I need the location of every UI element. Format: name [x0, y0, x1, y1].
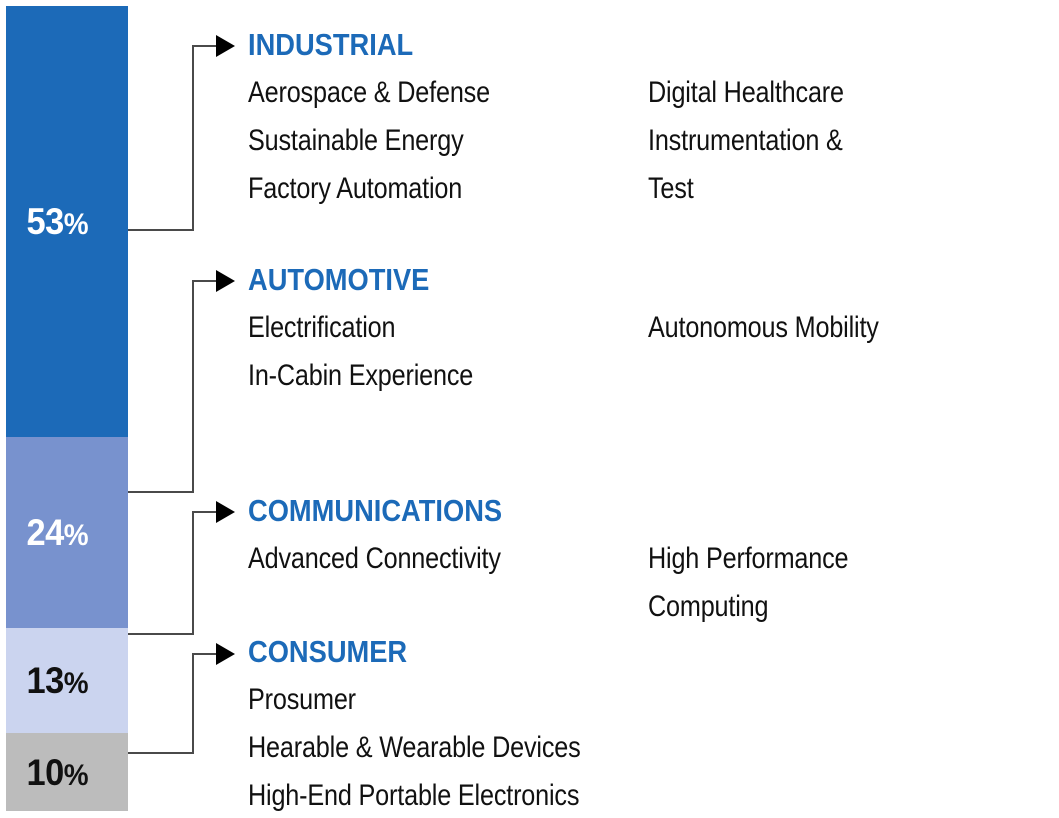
bar-label-automotive: 24% — [6, 514, 88, 551]
list-item: Hearable & Wearable Devices — [248, 724, 581, 772]
bar-value-automotive: 24 — [26, 512, 63, 553]
list-item: Instrumentation & — [648, 117, 844, 165]
connector-automotive-stem — [128, 491, 194, 493]
bar-label-industrial: 53% — [6, 203, 88, 240]
list-item: High-End Portable Electronics — [248, 772, 581, 818]
category-title-communications: COMMUNICATIONS — [248, 495, 502, 526]
bar-segment-automotive[interactable]: 24% — [6, 437, 128, 628]
connector-industrial-stem — [128, 229, 194, 231]
category-title-automotive: AUTOMOTIVE — [248, 264, 429, 295]
category-block-industrial: INDUSTRIAL Aerospace & Defense Sustainab… — [248, 29, 436, 219]
category-column-left-automotive: Electrification In-Cabin Experience — [248, 304, 516, 400]
percent-sign-automotive: % — [64, 519, 88, 552]
list-item: Electrification — [248, 304, 473, 352]
connector-industrial-riser — [192, 45, 194, 231]
connector-automotive-riser — [192, 280, 194, 493]
bar-segment-communications[interactable]: 13% — [6, 628, 128, 733]
list-item: High Performance — [648, 535, 848, 583]
category-block-communications: COMMUNICATIONS Advanced Connectivity Hig… — [248, 495, 537, 635]
connector-consumer-lead — [192, 653, 218, 655]
bar-value-consumer: 10 — [26, 752, 63, 793]
category-columns-industrial: Aerospace & Defense Sustainable Energy F… — [248, 69, 436, 219]
percent-sign-communications: % — [64, 667, 88, 700]
category-column-left-communications: Advanced Connectivity — [248, 535, 549, 583]
bar-segment-consumer[interactable]: 10% — [6, 733, 128, 811]
bar-value-communications: 13 — [26, 660, 63, 701]
list-item: Prosumer — [248, 676, 581, 724]
connector-consumer-stem — [128, 752, 194, 754]
category-title-consumer: CONSUMER — [248, 636, 407, 667]
category-block-consumer: CONSUMER Prosumer Hearable & Wearable De… — [248, 636, 429, 818]
list-item: Test — [648, 165, 844, 213]
category-column-left-consumer: Prosumer Hearable & Wearable Devices Hig… — [248, 676, 644, 818]
connector-communications-riser — [192, 511, 194, 635]
category-column-right-communications: High Performance Computing — [648, 535, 887, 631]
category-columns-automotive: Electrification In-Cabin Experience Auto… — [248, 304, 454, 404]
list-item: Digital Healthcare — [648, 69, 844, 117]
arrow-icon-industrial — [216, 35, 235, 57]
category-column-left-industrial: Aerospace & Defense Sustainable Energy F… — [248, 69, 536, 213]
connector-automotive-lead — [192, 280, 218, 282]
bar-label-consumer: 10% — [6, 754, 88, 791]
connector-communications-lead — [192, 511, 218, 513]
category-column-right-industrial: Digital Healthcare Instrumentation & Tes… — [648, 69, 881, 213]
connector-communications-stem — [128, 633, 194, 635]
list-item: In-Cabin Experience — [248, 352, 473, 400]
bar-label-communications: 13% — [6, 662, 88, 699]
bar-value-industrial: 53 — [26, 201, 63, 242]
arrow-icon-automotive — [216, 270, 235, 292]
percent-sign-industrial: % — [64, 208, 88, 241]
list-item: Advanced Connectivity — [248, 535, 501, 583]
list-item: Factory Automation — [248, 165, 490, 213]
list-item: Sustainable Energy — [248, 117, 490, 165]
bar-segment-industrial[interactable]: 53% — [6, 6, 128, 437]
category-title-industrial: INDUSTRIAL — [248, 29, 413, 60]
list-item: Aerospace & Defense — [248, 69, 490, 117]
category-column-right-automotive: Autonomous Mobility — [648, 304, 923, 352]
arrow-icon-consumer — [216, 643, 235, 665]
connector-industrial-lead — [192, 45, 218, 47]
list-item: Autonomous Mobility — [648, 304, 879, 352]
connector-consumer-riser — [192, 653, 194, 754]
list-item: Computing — [648, 583, 848, 631]
category-columns-consumer: Prosumer Hearable & Wearable Devices Hig… — [248, 676, 429, 818]
category-block-automotive: AUTOMOTIVE Electrification In-Cabin Expe… — [248, 264, 454, 404]
infographic-canvas: 53% 24% 13% 10% — [0, 0, 1059, 818]
category-columns-communications: Advanced Connectivity High Performance C… — [248, 535, 537, 635]
arrow-icon-communications — [216, 501, 235, 523]
percent-sign-consumer: % — [64, 759, 88, 792]
